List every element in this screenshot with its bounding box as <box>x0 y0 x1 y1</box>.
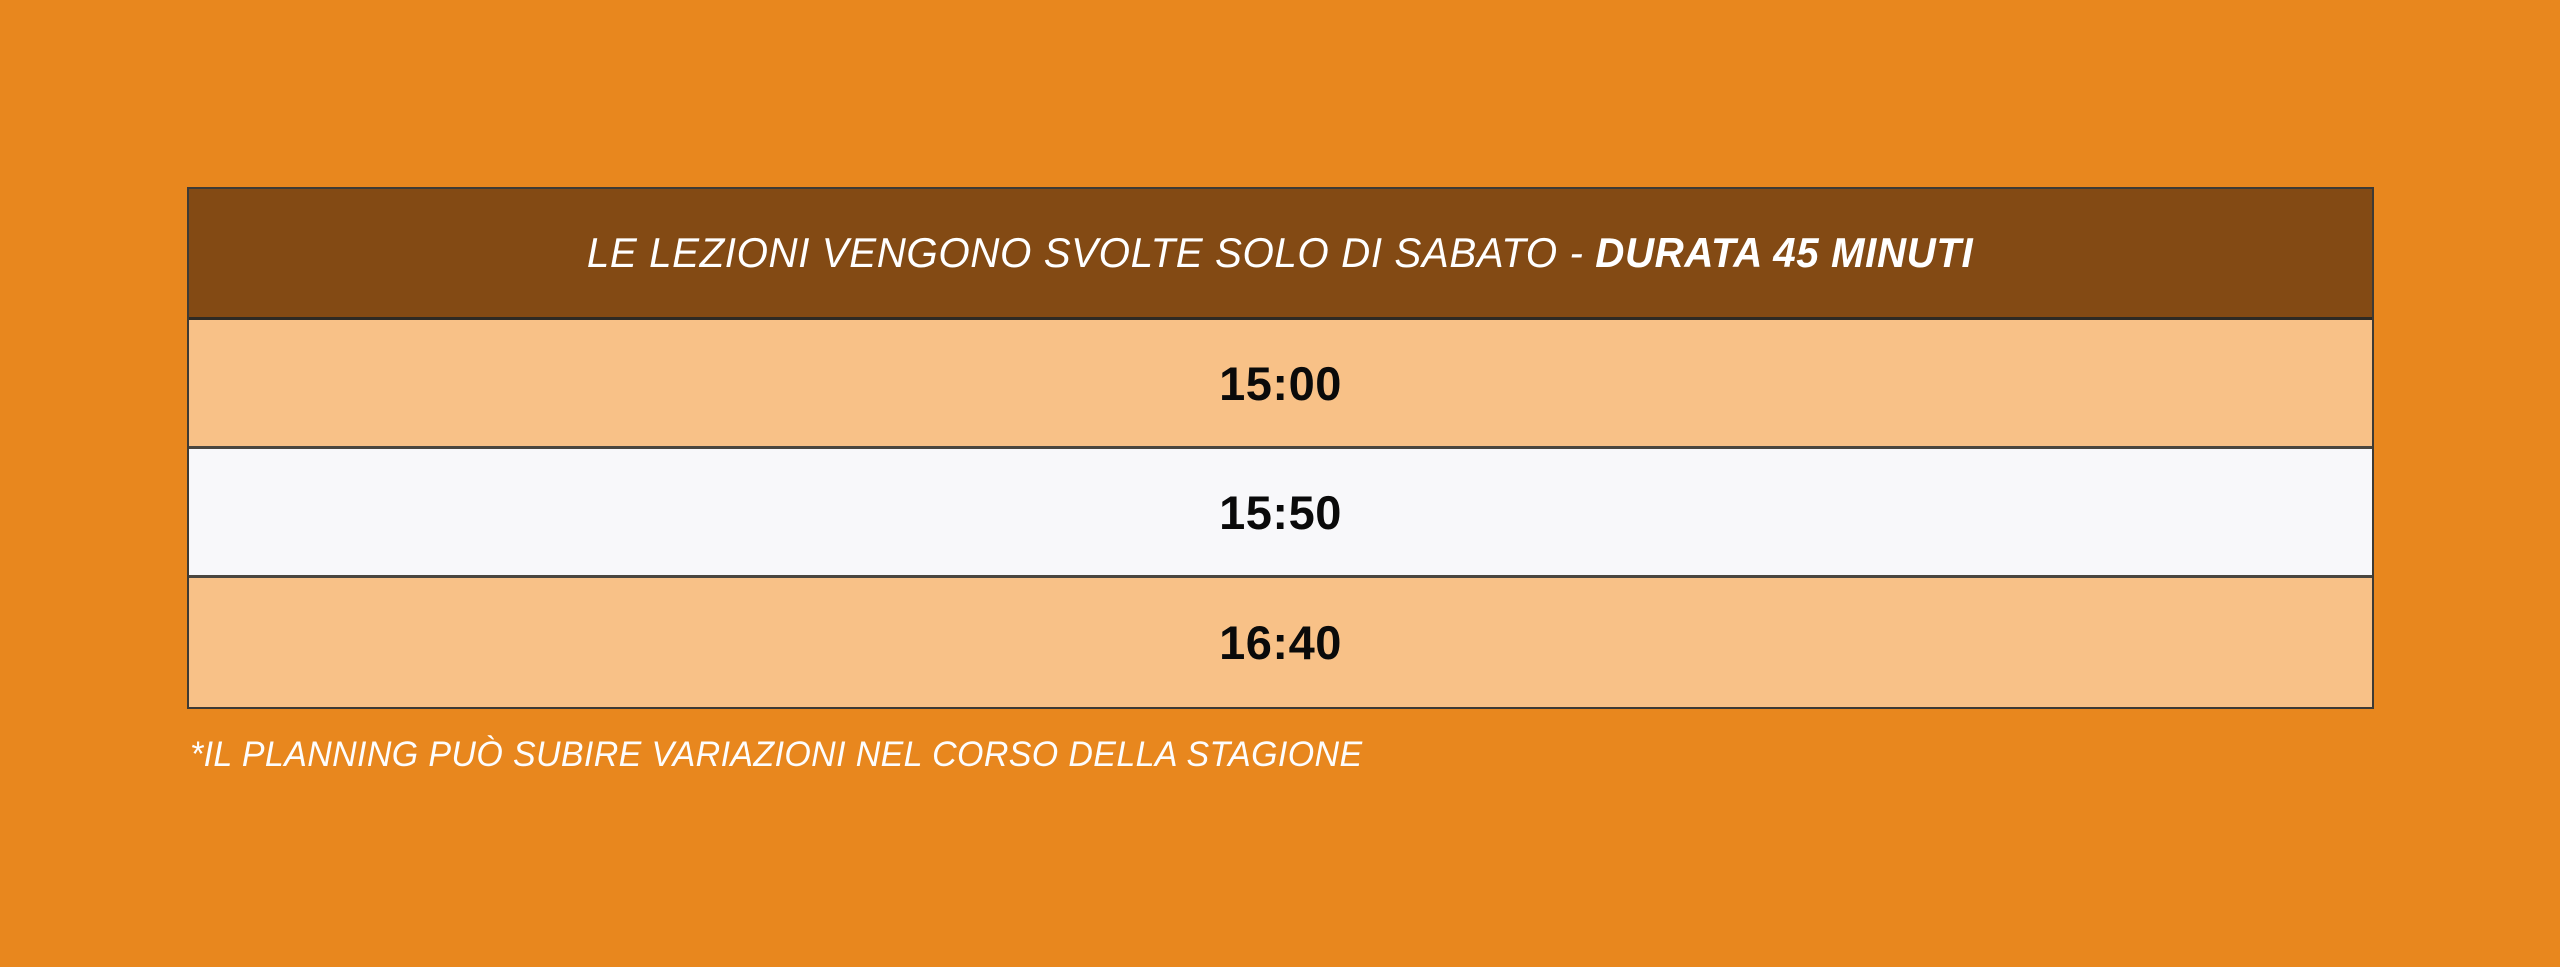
schedule-footnote: *IL PLANNING PUÒ SUBIRE VARIAZIONI NEL C… <box>190 735 1362 775</box>
table-row[interactable]: 15:50 <box>189 449 2372 578</box>
table-row[interactable]: 15:00 <box>189 320 2372 449</box>
schedule-header-title-bold: DURATA 45 MINUTI <box>1596 229 1974 276</box>
schedule-header-title-regular: LE LEZIONI VENGONO SVOLTE SOLO DI SABATO… <box>587 229 1595 276</box>
table-row[interactable]: 16:40 <box>189 578 2372 707</box>
lesson-time-value: 16:40 <box>1219 619 1342 666</box>
lesson-time-value: 15:50 <box>1219 489 1342 536</box>
schedule-header-title: LE LEZIONI VENGONO SVOLTE SOLO DI SABATO… <box>587 230 1973 276</box>
schedule-table: LE LEZIONI VENGONO SVOLTE SOLO DI SABATO… <box>187 187 2374 709</box>
schedule-table-header-row: LE LEZIONI VENGONO SVOLTE SOLO DI SABATO… <box>189 189 2372 320</box>
page-canvas: LE LEZIONI VENGONO SVOLTE SOLO DI SABATO… <box>0 0 2560 967</box>
lesson-time-value: 15:00 <box>1219 360 1342 407</box>
